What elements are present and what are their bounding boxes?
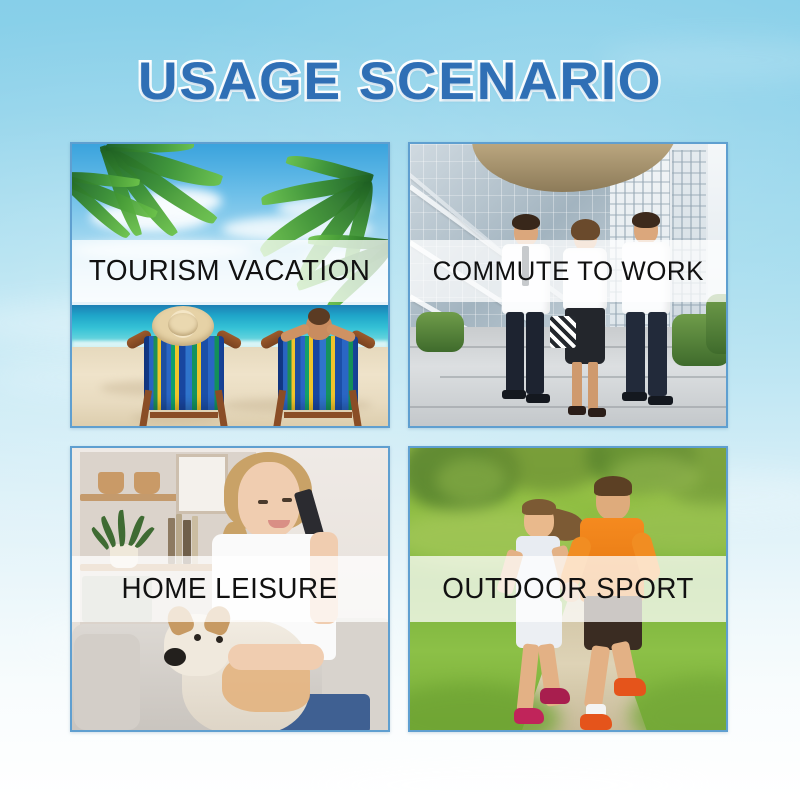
scenario-label-band: HOME LEISURE bbox=[72, 556, 388, 622]
scenario-card-outdoor-sport[interactable]: OUTDOOR SPORT bbox=[408, 446, 728, 732]
poster-canvas: USAGE SCENARIO bbox=[0, 0, 800, 800]
scenario-label-band: COMMUTE TO WORK bbox=[410, 240, 726, 302]
scenario-label: COMMUTE TO WORK bbox=[432, 256, 703, 287]
scenario-card-home-leisure[interactable]: HOME LEISURE bbox=[70, 446, 390, 732]
cloud-wisp bbox=[300, 760, 720, 800]
scenario-label-band: TOURISM VACATION bbox=[72, 240, 388, 302]
scenario-label: TOURISM VACATION bbox=[89, 255, 370, 288]
scenario-card-commute-to-work[interactable]: COMMUTE TO WORK bbox=[408, 142, 728, 428]
scenario-grid: TOURISM VACATION bbox=[70, 142, 728, 732]
page-title-container: USAGE SCENARIO bbox=[0, 55, 800, 109]
page-title: USAGE SCENARIO bbox=[138, 55, 662, 109]
scenario-label-band: OUTDOOR SPORT bbox=[410, 556, 726, 622]
scenario-label: HOME LEISURE bbox=[122, 573, 338, 606]
scenario-label: OUTDOOR SPORT bbox=[442, 573, 694, 606]
scenario-card-tourism-vacation[interactable]: TOURISM VACATION bbox=[70, 142, 390, 428]
